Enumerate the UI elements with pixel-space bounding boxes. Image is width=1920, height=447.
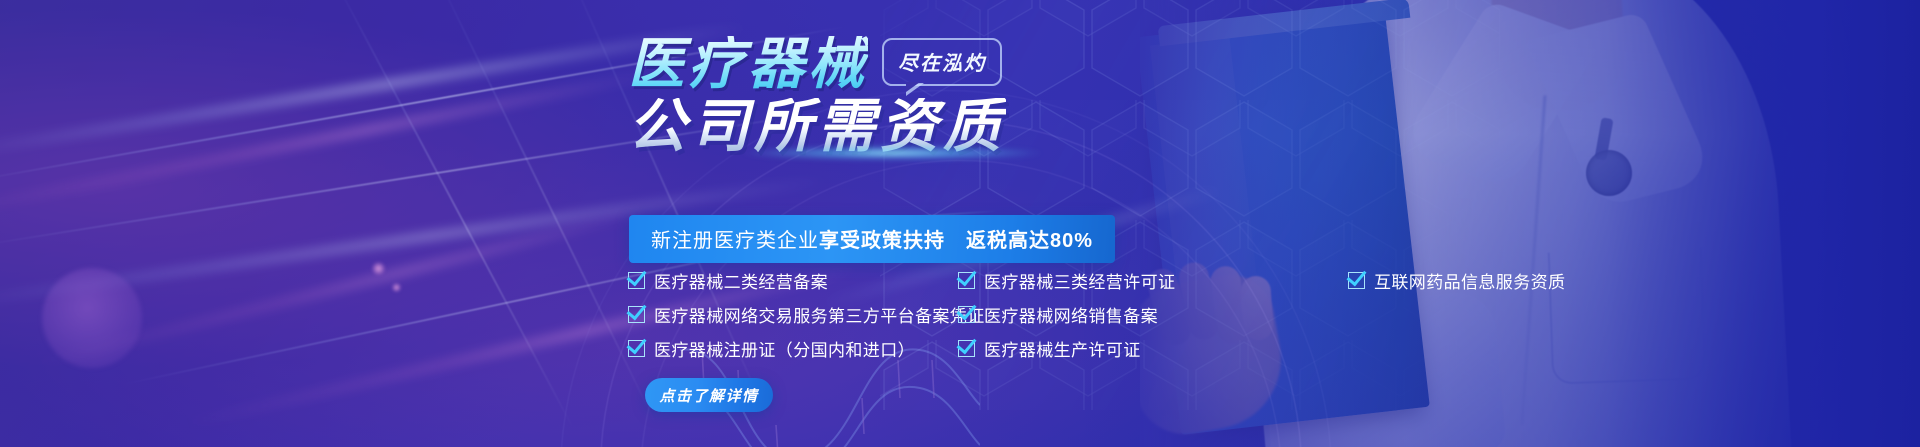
list-item[interactable]: 医疗器械注册证（分国内和进口） — [628, 336, 958, 361]
checkbox-checked-icon — [1348, 272, 1365, 289]
checkbox-checked-icon — [958, 306, 975, 323]
qualification-label: 互联网药品信息服务资质 — [1374, 268, 1565, 293]
learn-more-label: 点击了解详情 — [659, 385, 758, 406]
headline-first-row: 医疗器械 尽在泓灼 — [628, 36, 1006, 92]
headline-line-1: 医疗器械 — [628, 36, 868, 92]
checkbox-checked-icon — [958, 340, 975, 357]
list-item[interactable]: 医疗器械三类经营许可证 — [958, 268, 1318, 293]
checkbox-checked-icon — [628, 340, 645, 357]
policy-text-bold-1: 享受政策扶持 — [819, 230, 945, 252]
qualification-label: 医疗器械三类经营许可证 — [984, 268, 1175, 293]
quote-badge-label: 尽在泓灼 — [898, 53, 986, 75]
checkbox-checked-icon — [958, 272, 975, 289]
qualification-label: 医疗器械网络销售备案 — [984, 302, 1158, 327]
headline-block: 医疗器械 尽在泓灼 公司所需资质 — [628, 36, 1006, 156]
qualification-label: 医疗器械网络交易服务第三方平台备案凭证 — [654, 302, 985, 327]
policy-text-normal-1: 新注册医疗类企业 — [651, 230, 819, 252]
banner-content: 医疗器械 尽在泓灼 公司所需资质 新注册医疗类企业享受政策扶持 返税高达80% … — [0, 0, 1920, 447]
qualification-label: 医疗器械生产许可证 — [984, 336, 1141, 361]
list-item[interactable]: 医疗器械生产许可证 — [958, 336, 1318, 361]
qualification-label: 医疗器械二类经营备案 — [654, 268, 828, 293]
checkbox-checked-icon — [628, 272, 645, 289]
checkbox-checked-icon — [628, 306, 645, 323]
policy-text-spacer — [945, 230, 966, 252]
quote-badge: 尽在泓灼 — [882, 38, 1002, 86]
policy-highlight-text: 新注册医疗类企业享受政策扶持 返税高达80% — [651, 224, 1093, 253]
list-item[interactable]: 互联网药品信息服务资质 — [1348, 268, 1565, 293]
medical-device-qualification-banner: 医疗器械 尽在泓灼 公司所需资质 新注册医疗类企业享受政策扶持 返税高达80% … — [0, 0, 1920, 447]
policy-text-bold-2: 返税高达80% — [966, 230, 1093, 252]
learn-more-button[interactable]: 点击了解详情 — [645, 378, 773, 412]
qualification-label: 医疗器械注册证（分国内和进口） — [654, 336, 915, 361]
list-item[interactable]: 医疗器械二类经营备案 — [628, 268, 958, 293]
qualification-list: 医疗器械二类经营备案 医疗器械三类经营许可证 医疗器械网络交易服务第三方平台备案… — [628, 268, 1318, 361]
list-item[interactable]: 医疗器械网络销售备案 — [958, 302, 1318, 327]
list-item[interactable]: 医疗器械网络交易服务第三方平台备案凭证 — [628, 302, 958, 327]
policy-highlight-bar: 新注册医疗类企业享受政策扶持 返税高达80% — [629, 215, 1115, 263]
headline-underglow — [742, 146, 1042, 160]
